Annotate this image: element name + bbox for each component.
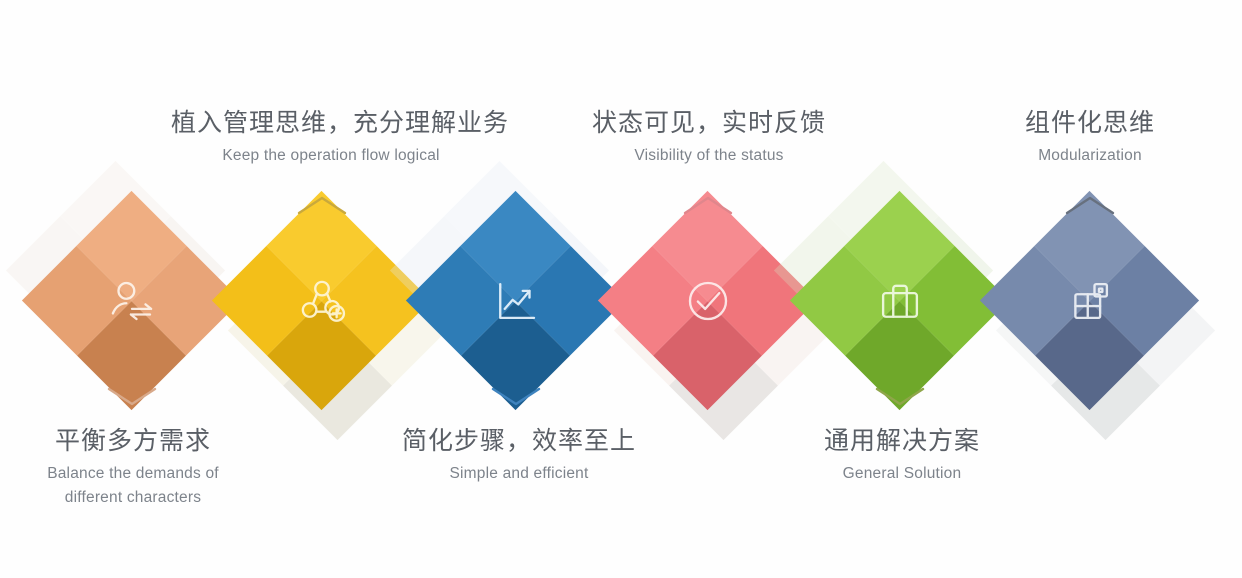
caption-title-en: Balance the demands of different charact… [0,462,293,510]
diamond-item-1[interactable] [22,191,242,411]
briefcase-icon [790,191,1010,411]
trend-chart-icon [406,191,626,411]
diamond-item-3[interactable] [406,191,626,411]
caption-title-cn: 植入管理思维，充分理解业务 [171,106,491,140]
check-circle-icon [598,191,818,411]
diamond-graphic [406,191,626,411]
caption-title-en: Keep the operation flow logical [171,144,491,167]
caption-item-4: 状态可见，实时反馈 Visibility of the status [549,106,869,167]
caption-title-cn: 简化步骤，效率至上 [359,424,679,458]
diamond-item-6[interactable] [980,191,1200,411]
diamond-graphic [598,191,818,411]
caption-title-en: Simple and efficient [359,462,679,485]
caption-item-2: 植入管理思维，充分理解业务 Keep the operation flow lo… [171,106,491,167]
caption-title-en: General Solution [742,462,1062,485]
caption-item-6: 组件化思维 Modularization [930,106,1242,167]
caption-title-en: Visibility of the status [549,144,869,167]
diamond-item-4[interactable] [598,191,818,411]
user-group-add-icon [212,191,432,411]
caption-item-5: 通用解决方案 General Solution [742,424,1062,485]
caption-title-cn: 通用解决方案 [742,424,1062,458]
infographic-canvas: 植入管理思维，充分理解业务 Keep the operation flow lo… [0,0,1242,578]
diamond-graphic [790,191,1010,411]
diamond-graphic [212,191,432,411]
caption-title-cn: 状态可见，实时反馈 [549,106,869,140]
caption-title-en: Modularization [930,144,1242,167]
diamond-item-2[interactable] [212,191,432,411]
caption-title-cn: 组件化思维 [930,106,1242,140]
diamond-graphic [22,191,242,411]
caption-item-1: 平衡多方需求 Balance the demands of different … [0,424,293,510]
modular-blocks-icon [980,191,1200,411]
caption-item-3: 简化步骤，效率至上 Simple and efficient [359,424,679,485]
caption-title-cn: 平衡多方需求 [0,424,293,458]
user-exchange-icon [22,191,242,411]
diamond-graphic [980,191,1200,411]
diamond-item-5[interactable] [790,191,1010,411]
